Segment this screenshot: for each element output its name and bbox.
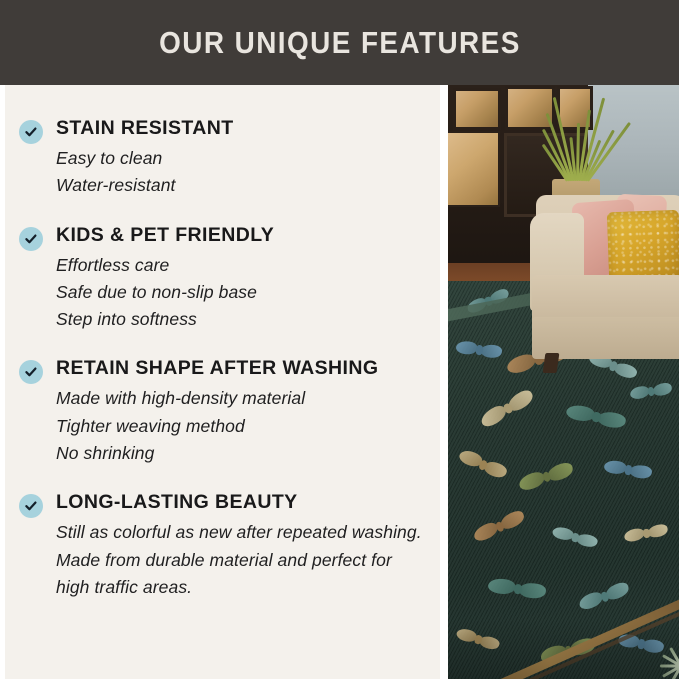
feature-item: KIDS & PET FRIENDLY Effortless care Safe… [19, 224, 426, 334]
page-title: OUR UNIQUE FEATURES [159, 25, 521, 61]
insect-motif [471, 509, 526, 544]
insect-wing [517, 470, 546, 492]
insect-wing [480, 343, 503, 359]
insect-wing [455, 340, 478, 356]
insect-motif [577, 581, 631, 612]
feature-line: Step into softness [56, 306, 426, 333]
check-circle-icon [19, 227, 43, 251]
insect-wing [597, 410, 627, 430]
insect-wing [518, 581, 546, 600]
feature-line: Made with high-density material [56, 385, 426, 412]
features-panel: STAIN RESISTANT Easy to clean Water-resi… [5, 85, 440, 679]
feature-line: No shrinking [56, 440, 426, 467]
feature-line: Tighter weaving method [56, 413, 426, 440]
feature-line: Easy to clean [56, 145, 426, 172]
feature-item: RETAIN SHAPE AFTER WASHING Made with hig… [19, 357, 426, 467]
insect-motif [478, 388, 536, 430]
feature-paragraph: Still as colorful as new after repeated … [56, 519, 426, 601]
insect-wing [623, 527, 645, 542]
feature-title: KIDS & PET FRIENDLY [56, 224, 426, 247]
insect-motif [487, 577, 547, 600]
feature-line: Water-resistant [56, 172, 426, 199]
feature-line: Safe due to non-slip base [56, 279, 426, 306]
check-circle-icon [19, 360, 43, 384]
stone-panel [508, 89, 552, 127]
gold-pillow [607, 210, 679, 284]
feature-title: LONG-LASTING BEAUTY [56, 491, 426, 514]
sofa-leg [543, 353, 560, 373]
stone-panel [456, 91, 498, 127]
header-banner: OUR UNIQUE FEATURES [0, 0, 679, 85]
insect-motif [457, 447, 508, 480]
insect-motif [551, 525, 599, 549]
stone-block [448, 133, 498, 205]
feature-item: STAIN RESISTANT Easy to clean Water-resi… [19, 117, 426, 200]
insect-body [643, 529, 651, 539]
feature-title: RETAIN SHAPE AFTER WASHING [56, 357, 426, 380]
check-circle-icon [19, 120, 43, 144]
insect-wing [603, 459, 627, 476]
feature-poster: OUR UNIQUE FEATURES STAIN RESISTANT Easy… [0, 0, 679, 679]
insect-motif [565, 403, 627, 430]
insect-wing [629, 463, 653, 480]
insect-motif [603, 459, 653, 480]
product-photo [448, 85, 679, 679]
insect-wing [652, 382, 673, 397]
feature-title: STAIN RESISTANT [56, 117, 426, 140]
insect-motif [629, 382, 672, 400]
insect-motif [455, 626, 501, 651]
check-circle-icon [19, 494, 43, 518]
insect-motif [517, 461, 575, 493]
insect-wing [647, 523, 669, 538]
feature-line: Effortless care [56, 252, 426, 279]
insect-wing [629, 385, 650, 400]
insect-wing [565, 403, 595, 423]
insect-wing [487, 577, 515, 596]
insect-motif [623, 523, 668, 542]
living-room-scene [448, 85, 679, 679]
feature-item: LONG-LASTING BEAUTY Still as colorful as… [19, 491, 426, 601]
insect-motif [455, 340, 502, 359]
